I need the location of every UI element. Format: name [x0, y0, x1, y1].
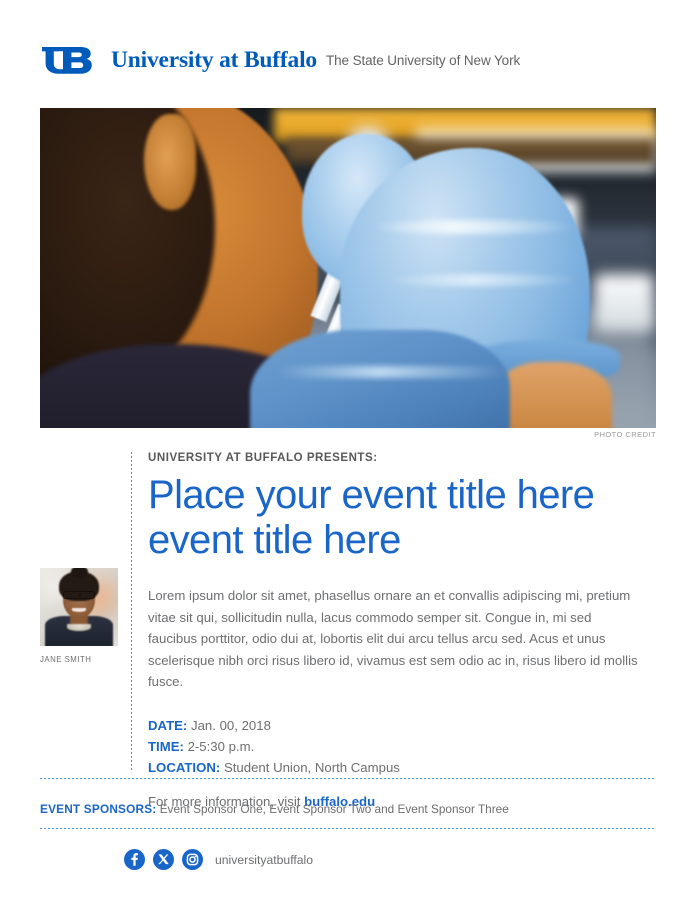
horizontal-dotted-divider-bottom — [40, 828, 656, 829]
instagram-icon[interactable] — [182, 849, 203, 870]
vertical-dotted-divider — [131, 452, 132, 770]
facebook-icon[interactable] — [124, 849, 145, 870]
detail-row-date: DATE: Jan. 00, 2018 — [148, 715, 638, 736]
event-details-list: DATE: Jan. 00, 2018 TIME: 2-5:30 p.m. LO… — [148, 715, 638, 778]
logo-tagline: The State University of New York — [326, 53, 520, 68]
ub-monogram-logo-icon — [40, 44, 102, 77]
speaker-name: JANE SMITH — [40, 655, 118, 664]
detail-label-location: LOCATION: — [148, 760, 220, 775]
detail-row-location: LOCATION: Student Union, North Campus — [148, 757, 638, 778]
detail-value-date: Jan. 00, 2018 — [191, 718, 271, 733]
social-handle: universityatbuffalo — [215, 853, 313, 867]
social-footer: universityatbuffalo — [124, 849, 313, 870]
detail-value-location: Student Union, North Campus — [224, 760, 400, 775]
event-sponsors: EVENT SPONSORS: Event Sponsor One, Event… — [40, 802, 509, 816]
sponsors-label: EVENT SPONSORS: — [40, 802, 156, 816]
hero-image — [40, 108, 656, 428]
sponsors-value: Event Sponsor One, Event Sponsor Two and… — [160, 802, 509, 816]
event-description: Lorem ipsum dolor sit amet, phasellus or… — [148, 585, 638, 693]
detail-value-time: 2-5:30 p.m. — [188, 739, 255, 754]
speaker-block: JANE SMITH — [40, 568, 118, 664]
detail-label-time: TIME: — [148, 739, 184, 754]
logo-wordmark: University at Buffalo — [111, 47, 317, 74]
event-poster: University at Buffalo The State Universi… — [0, 0, 696, 900]
detail-row-time: TIME: 2-5:30 p.m. — [148, 736, 638, 757]
event-content: UNIVERSITY AT BUFFALO PRESENTS: Place yo… — [148, 452, 638, 809]
x-twitter-icon[interactable] — [153, 849, 174, 870]
brand-header: University at Buffalo The State Universi… — [40, 44, 520, 77]
page-title: Place your event title here event title … — [148, 473, 638, 563]
photo-credit: PHOTO CREDIT — [40, 430, 656, 439]
speaker-avatar — [40, 568, 118, 646]
eyebrow-presents: UNIVERSITY AT BUFFALO PRESENTS: — [148, 452, 638, 464]
detail-label-date: DATE: — [148, 718, 187, 733]
